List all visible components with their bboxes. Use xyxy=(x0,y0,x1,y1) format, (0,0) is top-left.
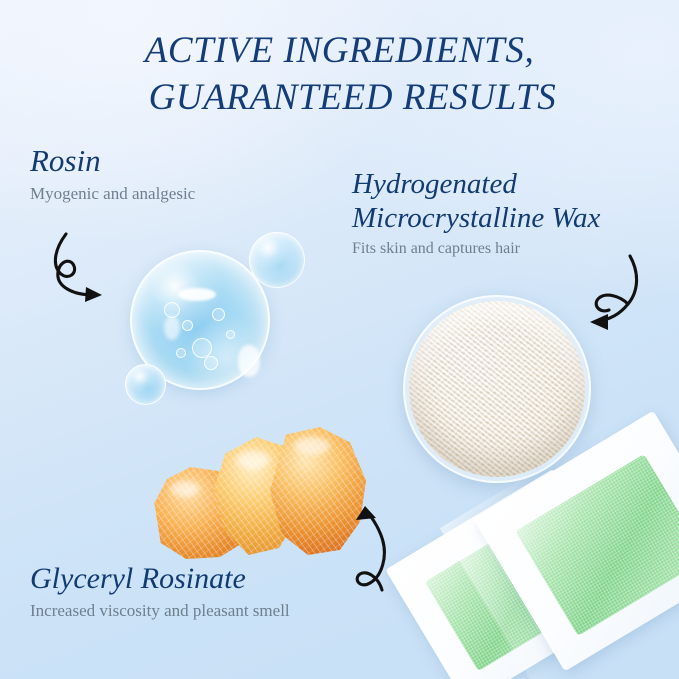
micro-bubble xyxy=(212,308,225,321)
bubble-highlight xyxy=(178,288,216,301)
bubble-highlight xyxy=(164,316,180,340)
curly-arrow-up-icon xyxy=(338,498,422,592)
bubble-satellite-top-right xyxy=(249,232,305,288)
ingredient-name-rosin: Rosin xyxy=(30,143,195,179)
ingredient-block-rosin: Rosin Myogenic and analgesic xyxy=(30,143,195,204)
wax-flakes-petri-dish-image xyxy=(403,295,591,483)
micro-bubble xyxy=(182,320,193,331)
ingredients-infographic: ACTIVE INGREDIENTS, GUARANTEED RESULTS xyxy=(0,0,679,679)
ingredient-name-wax: Hydrogenated Microcrystalline Wax xyxy=(352,168,600,235)
micro-bubble xyxy=(204,356,218,370)
micro-bubble xyxy=(164,302,180,318)
curly-arrow-right-down-icon xyxy=(44,232,128,308)
micro-bubble xyxy=(176,348,186,358)
ingredient-desc-wax: Fits skin and captures hair xyxy=(352,239,600,258)
micro-bubble xyxy=(226,330,235,339)
ingredient-desc-rosin: Myogenic and analgesic xyxy=(30,184,195,204)
ingredient-block-glyceryl-rosinate: Glyceryl Rosinate Increased viscosity an… xyxy=(30,562,290,621)
micro-bubble xyxy=(192,338,212,358)
rosin-gloss xyxy=(170,481,200,497)
amber-rosin-chunks-image xyxy=(148,427,368,567)
curly-arrow-left-down-icon xyxy=(568,252,652,342)
rosin-gloss xyxy=(294,437,330,455)
bubble-highlight xyxy=(238,345,260,377)
page-title-line-2: GUARANTEED RESULTS xyxy=(0,75,679,122)
green-wax-strips-image xyxy=(418,470,679,679)
ingredient-block-wax: Hydrogenated Microcrystalline Wax Fits s… xyxy=(352,168,600,258)
ingredient-desc-glyceryl-rosinate: Increased viscosity and pleasant smell xyxy=(30,601,290,621)
page-title: ACTIVE INGREDIENTS, GUARANTEED RESULTS xyxy=(0,28,679,121)
rosin-gloss xyxy=(236,451,270,469)
page-title-line-1: ACTIVE INGREDIENTS, xyxy=(145,30,535,71)
blue-gel-bubble-image xyxy=(108,228,313,413)
ingredient-name-glyceryl-rosinate: Glyceryl Rosinate xyxy=(30,562,290,597)
bubble-satellite-bottom-left xyxy=(125,364,166,405)
white-wax-flakes xyxy=(409,301,585,477)
